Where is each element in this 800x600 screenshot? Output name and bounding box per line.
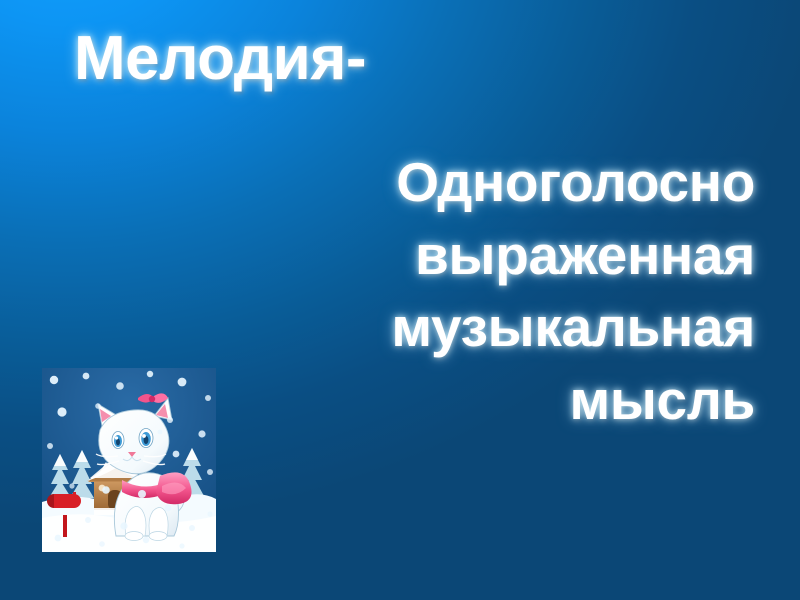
slide-canvas: Мелодия- Одноголосно выраженная музыкаль… bbox=[0, 0, 800, 600]
definition-line-2: выраженная bbox=[115, 219, 755, 292]
definition-line-4: мысль bbox=[115, 364, 755, 437]
definition-line-1: Одноголосно bbox=[115, 146, 755, 219]
definition-line-3: музыкальная bbox=[115, 291, 755, 364]
slide-title: Мелодия- bbox=[0, 26, 440, 93]
definition-block: Одноголосно выраженная музыкальная мысль bbox=[115, 146, 755, 436]
text-layer: Мелодия- Одноголосно выраженная музыкаль… bbox=[0, 0, 800, 600]
